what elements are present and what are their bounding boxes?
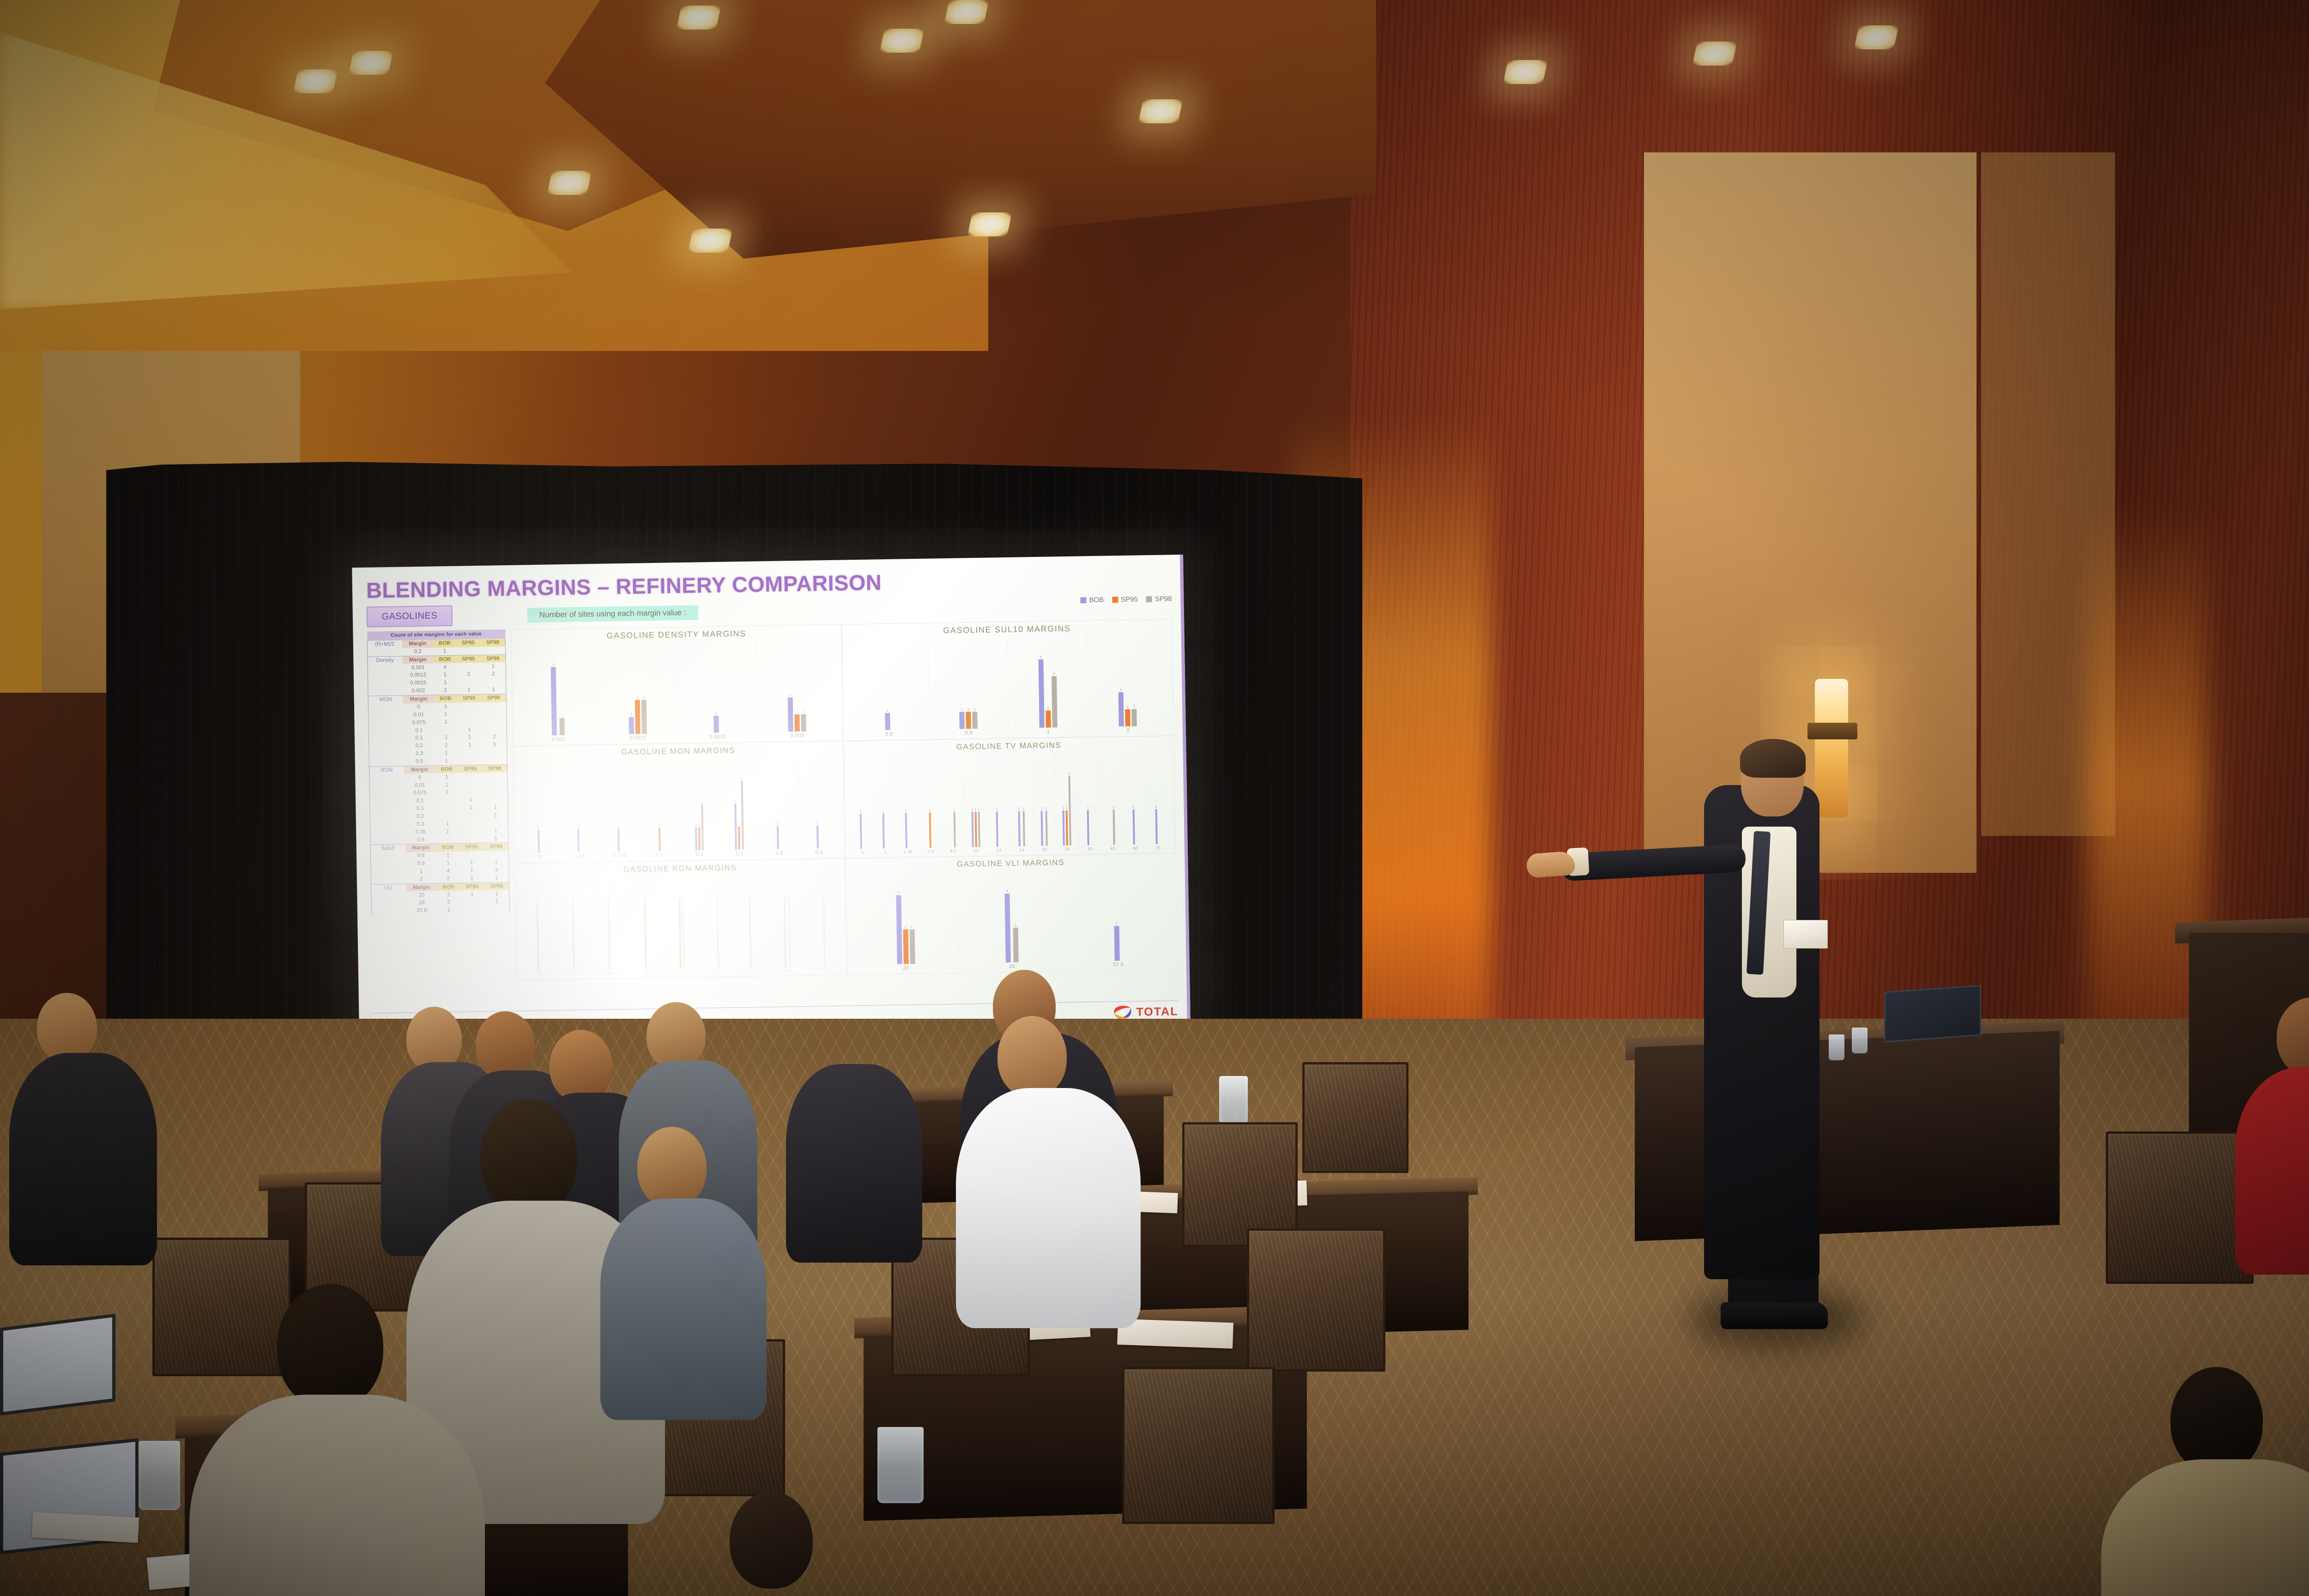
table-cell-sp95: 1 xyxy=(460,890,484,899)
chart-category-bars: 11 xyxy=(1032,751,1056,846)
chart-bar-column: 1 xyxy=(1045,752,1048,846)
chart-bar xyxy=(788,697,793,731)
table-cell-bob: 2 xyxy=(434,687,457,695)
chart-bar xyxy=(698,827,701,850)
chart-category: 4131 xyxy=(1007,635,1088,735)
chart-bar-value: 1 xyxy=(1133,705,1135,708)
chart-bar-column: 1 xyxy=(793,639,800,732)
table-cell-bob xyxy=(435,726,457,734)
table-cell-margin: 0.8 xyxy=(405,859,437,868)
table-cell-margin: 0.1 xyxy=(403,734,435,743)
ceiling-downlight-icon xyxy=(1138,99,1183,123)
chart-bar xyxy=(1133,810,1135,844)
chart-bar xyxy=(1131,709,1137,726)
table-cell-sp98: 3 xyxy=(484,866,509,875)
table-row-spacer xyxy=(369,719,403,727)
audience-head xyxy=(37,993,97,1062)
table-column-header: SP95 xyxy=(456,655,481,663)
chart-bar xyxy=(1013,928,1019,962)
wall-sconce-light xyxy=(1815,679,1848,817)
presenter-hair xyxy=(1740,739,1806,778)
chart-bar-column: 1 xyxy=(958,636,965,729)
chart-category-bars: 1 xyxy=(758,756,799,849)
chart-category: 17.5 xyxy=(918,753,943,853)
ceiling-downlight-icon xyxy=(293,69,338,93)
chart-bar-column: 4 xyxy=(550,643,557,736)
table-cell-sp95: 1 xyxy=(459,796,483,804)
chart-bar xyxy=(538,830,540,853)
chart-bar-column: 1 xyxy=(952,753,955,847)
chart-bar-column xyxy=(752,873,753,967)
chart-bar xyxy=(882,813,885,848)
chart-category-bars: 1 xyxy=(592,875,629,970)
table-cell-sp95: 1 xyxy=(459,859,484,867)
table-row-spacer xyxy=(371,868,405,876)
chart-bar-column xyxy=(819,755,820,848)
chart-category-label: 20 xyxy=(903,965,909,971)
chart-bar-column: 4 xyxy=(1038,635,1044,728)
chart-category-label: 0.8 xyxy=(820,967,827,972)
chart-category: 175 xyxy=(1145,750,1170,850)
table-cell-sp95 xyxy=(458,749,482,757)
chart-category-label: 1.25 xyxy=(904,849,913,854)
chart-vli: GASOLINE VLI MARGINS 211202126137.5 xyxy=(845,853,1178,975)
table-row-spacer xyxy=(368,664,402,672)
chart-bar-column: 1 xyxy=(788,873,791,967)
chart-category-bars: 111 xyxy=(927,636,1009,730)
table-cell-bob: 2 xyxy=(437,891,460,899)
table-column-header: Margin xyxy=(406,883,437,891)
legend-swatch-bob xyxy=(1080,597,1086,603)
table-cell-margin: 2 xyxy=(405,875,437,883)
chart-bar xyxy=(795,714,800,731)
chart-category-label: 0.0012 xyxy=(630,736,647,742)
chart-bar-column: 1 xyxy=(1154,750,1158,844)
chart-category-label: 0.3 xyxy=(749,969,756,973)
table-cell-sp98 xyxy=(482,710,507,718)
table-cell-sp98: 1 xyxy=(483,811,508,820)
chart-bar xyxy=(966,712,972,729)
chart-category-label: 7.5 xyxy=(928,849,934,853)
chart-bar xyxy=(1125,709,1130,726)
table-cell-margin: 0.2 xyxy=(402,647,434,656)
chart-category-bars: 1 xyxy=(1145,750,1169,844)
chart-bar xyxy=(801,714,807,731)
chart-bar-column: 1 xyxy=(713,641,719,733)
chart-bar xyxy=(972,712,978,729)
chart-bar-value: 4 xyxy=(1040,655,1041,659)
chart-bar xyxy=(1052,676,1058,727)
chart-category: 2130.2 xyxy=(718,756,760,857)
chart-bar-column: 1 xyxy=(572,876,575,970)
table-row-spacer xyxy=(369,743,404,751)
ceiling-downlight-icon xyxy=(547,171,592,195)
table-column-header: SP95 xyxy=(457,694,481,702)
chart-category: 10.0015 xyxy=(677,640,758,740)
chart-bar-column: 1 xyxy=(775,756,779,849)
chart-bar-column: 1 xyxy=(1022,752,1025,846)
chart-category-label: 19 xyxy=(1042,847,1047,852)
table-cell-bob: 1 xyxy=(435,773,458,781)
table-cell-sp98 xyxy=(483,819,508,828)
chart-category-bars: 1 xyxy=(598,758,640,852)
chart-bar-column: 1 xyxy=(1113,868,1119,961)
chart-bar-column xyxy=(540,760,541,853)
table-cell-bob: 1 xyxy=(434,702,457,711)
chart-bar-value: 1 xyxy=(561,714,563,718)
chart-bar xyxy=(885,713,890,730)
chart-bar-column: 2 xyxy=(1004,869,1011,962)
chart-bar-value: 2 xyxy=(1120,688,1122,692)
table-cell-bob: 1 xyxy=(435,710,457,719)
chart-category-bars: 1 xyxy=(519,759,560,853)
audience-chair xyxy=(152,1238,291,1376)
chart-bar-column: 1 xyxy=(881,754,884,848)
chart-bar-column: 1 xyxy=(537,760,540,853)
chart-bar-value: 1 xyxy=(715,712,717,715)
table-row-spacer xyxy=(369,758,404,767)
table-cell-sp95 xyxy=(456,663,481,671)
audience-head xyxy=(2170,1367,2263,1473)
plot-tv: 101111.2517.518.511110113111411191122012… xyxy=(848,750,1172,856)
chart-bar-value: 1 xyxy=(572,896,574,900)
table-cell-sp95 xyxy=(458,780,483,789)
chart-bar-column: 1 xyxy=(1065,751,1068,846)
chart-category-label: 0.2 xyxy=(714,969,720,974)
chart-category-bars: 213 xyxy=(718,756,759,850)
chart-bar-value: 1 xyxy=(1066,806,1068,810)
chart-bar-value: 2 xyxy=(701,800,703,804)
chart-category-bars: 1 xyxy=(798,755,839,849)
table-cell-sp98 xyxy=(481,678,506,686)
audience-chair xyxy=(2106,1131,2254,1284)
chart-bar-value: 2 xyxy=(1069,771,1070,775)
legend-item-sp95: SP95 xyxy=(1112,595,1138,604)
chart-category-bars: 211 xyxy=(1087,633,1168,727)
chart-bar-column xyxy=(780,756,781,849)
table-row-spacer xyxy=(369,782,404,790)
chart-bar-column: 2 xyxy=(787,639,793,732)
table-cell-margin: 0.35 xyxy=(405,828,436,836)
table-column-header: SP95 xyxy=(458,765,482,773)
chart-bar-value: 1 xyxy=(538,825,539,829)
chart-category: 10.3 xyxy=(758,756,799,856)
table-row-spacer xyxy=(368,672,402,680)
plot-sul10: 10.61110.841312112 xyxy=(846,633,1170,738)
chart-category-bars: 1 xyxy=(677,640,758,733)
table-group-name: (R+M)/2 xyxy=(367,640,402,648)
chart-bar xyxy=(1018,811,1020,846)
chart-bar-column: 1 xyxy=(678,875,682,969)
chart-category: 10.5 xyxy=(798,755,839,856)
chart-category-bars: 1 xyxy=(986,752,1010,846)
table-row-spacer xyxy=(368,680,403,688)
chart-bar-column xyxy=(576,876,578,970)
chart-bar-value: 1 xyxy=(886,709,888,713)
table-cell-sp98 xyxy=(480,647,505,655)
chart-bar-value: 1 xyxy=(929,808,931,812)
chart-bar-column xyxy=(1159,750,1161,844)
chart-bar-column: 1 xyxy=(902,871,908,964)
ceiling-downlight-icon xyxy=(879,29,924,53)
chart-bar-value: 1 xyxy=(1112,805,1114,809)
legend-item-sp98: SP98 xyxy=(1146,595,1172,603)
table-cell-sp98: 1 xyxy=(484,827,508,835)
chart-bar xyxy=(713,716,719,733)
chart-bar-column xyxy=(713,874,714,968)
audience-head xyxy=(647,1002,706,1070)
table-cell-sp95: 1 xyxy=(457,686,481,695)
table-cell-bob: 1 xyxy=(435,718,457,726)
chart-bar-column: 1 xyxy=(928,754,931,848)
chart-category-bars: 1 xyxy=(895,754,919,848)
audience-chair xyxy=(1122,1367,1275,1524)
chart-bar xyxy=(629,717,635,734)
chart-category: 21120 xyxy=(852,870,959,972)
chart-category: 10.01 xyxy=(556,876,593,977)
chart-bar-column xyxy=(1119,868,1121,961)
chart-bar-value: 1 xyxy=(859,810,861,813)
chart-category-bars: 211 xyxy=(852,870,959,965)
chart-bar-value: 1 xyxy=(788,893,790,896)
table-cell-margin: 0.2 xyxy=(405,812,436,821)
chart-category: 10.2 xyxy=(698,874,735,974)
table-cell-bob: 1 xyxy=(437,907,460,915)
chart-bar xyxy=(953,812,955,847)
chart-bar-value: 1 xyxy=(904,925,906,929)
chart-category-label: 0 xyxy=(861,850,864,855)
chart-bar-value: 1 xyxy=(783,893,785,896)
chart-category: 10 xyxy=(519,759,561,860)
chart-bar xyxy=(975,812,977,846)
table-cell-sp95 xyxy=(459,819,483,828)
chart-bar xyxy=(788,897,791,967)
chart-bar-column xyxy=(1000,752,1001,846)
chart-category-bars: 1 xyxy=(638,757,679,851)
chart-bar-column xyxy=(1121,868,1122,961)
chart-category-label: 20 xyxy=(1065,847,1070,852)
chart-bar-value: 1 xyxy=(617,824,619,828)
presenter-name-badge xyxy=(1783,920,1828,949)
chart-bar-column: 1 xyxy=(607,876,610,970)
chart-bar-column xyxy=(1135,750,1136,845)
table-column-header: SP95 xyxy=(459,883,484,891)
table-cell-sp98 xyxy=(483,772,508,780)
audience-head xyxy=(277,1284,383,1409)
water-glass xyxy=(139,1441,180,1510)
table-cell-sp98 xyxy=(484,851,508,859)
chart-bar xyxy=(577,829,580,852)
presenter-laptop xyxy=(1884,985,1981,1043)
chart-bar-column xyxy=(621,758,622,852)
chart-category: 137.5 xyxy=(1064,867,1172,968)
chart-bar-value: 1 xyxy=(1115,922,1117,925)
chart-bar-value: 1 xyxy=(659,823,660,827)
table-column-header: BOB xyxy=(434,695,457,703)
chart-bar-column: 1 xyxy=(616,758,619,852)
presentation-slide: BLENDING MARGINS – REFINERY COMPARISON G… xyxy=(352,555,1191,1034)
chart-bar-column xyxy=(1136,750,1138,845)
table-cell-sp95 xyxy=(460,898,484,907)
table-cell-sp95 xyxy=(459,812,483,820)
chart-bar-column xyxy=(998,752,1000,846)
chart-bar-value: 1 xyxy=(630,713,632,716)
chart-category-label: 0.002 xyxy=(791,733,804,738)
chart-category-bars: 41 xyxy=(517,642,598,736)
chart-category-label: 8.5 xyxy=(950,848,957,853)
chart-category: 124 xyxy=(1077,751,1101,851)
chart-bar-value: 1 xyxy=(749,894,751,897)
table-cell-sp95 xyxy=(457,702,481,711)
chart-legend: BOB SP95 SP98 xyxy=(1080,595,1172,604)
table-cell-margin: 0.01 xyxy=(403,711,435,719)
chart-category-bars: 122 xyxy=(597,641,678,735)
chart-category-label: 60 xyxy=(1133,846,1138,850)
chart-category: 1114 xyxy=(1009,752,1034,852)
table-cell-sp95: 2 xyxy=(456,671,481,679)
chart-bar-value: 1 xyxy=(577,825,579,828)
chart-ron: GASOLINE RON MARGINS 1010.0110.07510.111… xyxy=(514,858,847,980)
table-cell-sp98: 1 xyxy=(484,898,509,906)
table-cell-bob: 1 xyxy=(433,647,456,655)
chart-category-bars: 11 xyxy=(768,872,805,967)
chart-category-label: 0.001 xyxy=(551,737,565,742)
chart-category-label: 37.5 xyxy=(1113,962,1124,967)
chart-bar-column: 1 xyxy=(1132,750,1135,845)
legend-label-sp95: SP95 xyxy=(1121,595,1138,604)
chart-bar xyxy=(678,899,681,968)
chart-bar-column: 1 xyxy=(783,873,786,967)
chart-category: 10 xyxy=(521,877,558,977)
legend-swatch-sp95 xyxy=(1112,597,1118,603)
chart-bar-column: 1 xyxy=(1130,634,1137,727)
table-cell-sp98: 1 xyxy=(484,858,509,867)
table-cell-sp98: 1 xyxy=(484,874,509,883)
chart-bar xyxy=(816,825,819,848)
table-cell-bob: 1 xyxy=(435,781,458,789)
table-row-spacer xyxy=(371,907,406,916)
chart-category: 11110 xyxy=(963,753,988,853)
table-column-header: SP98 xyxy=(481,654,506,663)
chart-category: 10.01 xyxy=(559,759,600,859)
chart-bar-value: 1 xyxy=(974,707,976,711)
audience-chair xyxy=(1302,1062,1408,1173)
table-cell-margin: 0.01 xyxy=(404,781,435,790)
chart-bar-column: 1 xyxy=(682,874,685,968)
chart-bar-value: 1 xyxy=(776,822,778,825)
audience-head xyxy=(480,1099,577,1215)
table-column-header: BOB xyxy=(434,655,456,664)
chart-category-bars: 1 xyxy=(627,875,664,969)
chart-bar-value: 2 xyxy=(734,799,736,803)
ceiling-downlight-icon xyxy=(1854,25,1898,49)
chart-bar-column: 2 xyxy=(701,757,704,850)
chart-bar xyxy=(1066,810,1068,845)
chart-bar-column: 3 xyxy=(1051,635,1057,728)
chart-mon: GASOLINE MON MARGINS 1010.0110.07510.111… xyxy=(513,741,845,864)
table-cell-bob: 2 xyxy=(437,899,460,907)
chart-bar-column: 1 xyxy=(536,877,539,971)
chart-category-label: 14 xyxy=(1019,847,1024,852)
chart-bar-column: 1 xyxy=(558,643,565,736)
chart-bar-value: 1 xyxy=(911,925,913,929)
chart-bar-column: 1 xyxy=(749,873,752,967)
chart-category-label: 0.1 xyxy=(643,970,649,975)
water-glass xyxy=(1219,1076,1248,1125)
table-cell-sp95 xyxy=(457,710,482,718)
table-row-spacer xyxy=(371,900,406,908)
chart-category-bars: 11 xyxy=(662,874,699,969)
chart-bar-value: 1 xyxy=(1062,806,1064,810)
table-group-name: VLI xyxy=(371,883,405,892)
table-cell-margin: 0.075 xyxy=(403,719,435,727)
table-cell-bob: 1 xyxy=(434,671,456,679)
chart-bar xyxy=(859,814,862,848)
chart-bar xyxy=(783,897,786,967)
chart-bar-column: 1 xyxy=(1017,752,1020,846)
chart-bar-column xyxy=(719,641,720,733)
chart-bar-value: 2 xyxy=(643,695,645,699)
charts-grid: GASOLINE DENSITY MARGINS 410.0011220.001… xyxy=(511,619,1178,980)
chart-category: 10.6 xyxy=(848,637,929,738)
chart-bar xyxy=(1046,711,1051,728)
audience-head xyxy=(637,1127,707,1208)
table-cell-margin: 0.8 xyxy=(405,836,436,844)
ceiling-downlight-icon xyxy=(1503,60,1547,84)
chart-bar xyxy=(749,898,752,967)
chart-bar xyxy=(972,812,974,846)
chart-bar-value: 1 xyxy=(816,821,818,825)
chart-bar-column: 1 xyxy=(995,752,998,846)
chart-bar-column: 2 xyxy=(734,756,737,850)
chart-category: 10.8 xyxy=(804,872,841,973)
chart-bar-column: 1 xyxy=(815,755,818,848)
table-row-spacer xyxy=(368,688,403,696)
table-cell-margin: 0.002 xyxy=(403,687,434,695)
chart-bar-column: 1 xyxy=(644,875,647,969)
chart-bar-column xyxy=(907,754,909,848)
chart-category: 11.25 xyxy=(895,754,919,854)
table-column-header: Margin xyxy=(403,695,434,703)
chart-category-label: 75 xyxy=(1156,845,1161,850)
chart-bar-value: 4 xyxy=(552,663,554,666)
chart-category-bars: 1 xyxy=(698,874,735,968)
water-glass xyxy=(1852,1028,1868,1053)
chart-bar-value: 1 xyxy=(796,710,798,714)
chart-category-label: 0.35 xyxy=(783,968,792,973)
chart-bar-value: 1 xyxy=(1047,706,1049,710)
chart-bar-value: 2 xyxy=(897,891,899,895)
chart-category-bars: 1 xyxy=(556,876,593,971)
chart-category-label: 0.1 xyxy=(656,852,664,858)
table-cell-sp95 xyxy=(459,851,484,859)
chart-bar-column xyxy=(931,754,933,848)
chart-bar-column xyxy=(611,876,613,970)
chart-category: 10 xyxy=(850,755,874,855)
chart-bar-column: 2 xyxy=(634,641,641,734)
chart-category-bars: 1 xyxy=(1077,751,1101,845)
table-cell-sp98 xyxy=(483,796,508,804)
table-cell-margin: 0.1 xyxy=(405,804,436,813)
chart-bar-column: 1 xyxy=(883,638,890,731)
chart-bar-value: 1 xyxy=(1087,806,1089,810)
chart-bar-value: 1 xyxy=(644,895,646,899)
table-cell-bob: 1 xyxy=(435,757,458,765)
chart-bar-column xyxy=(647,875,648,969)
chart-bar-value: 1 xyxy=(905,809,907,812)
chart-category-bars: 1 xyxy=(872,754,896,848)
table-row-spacer xyxy=(371,860,405,868)
